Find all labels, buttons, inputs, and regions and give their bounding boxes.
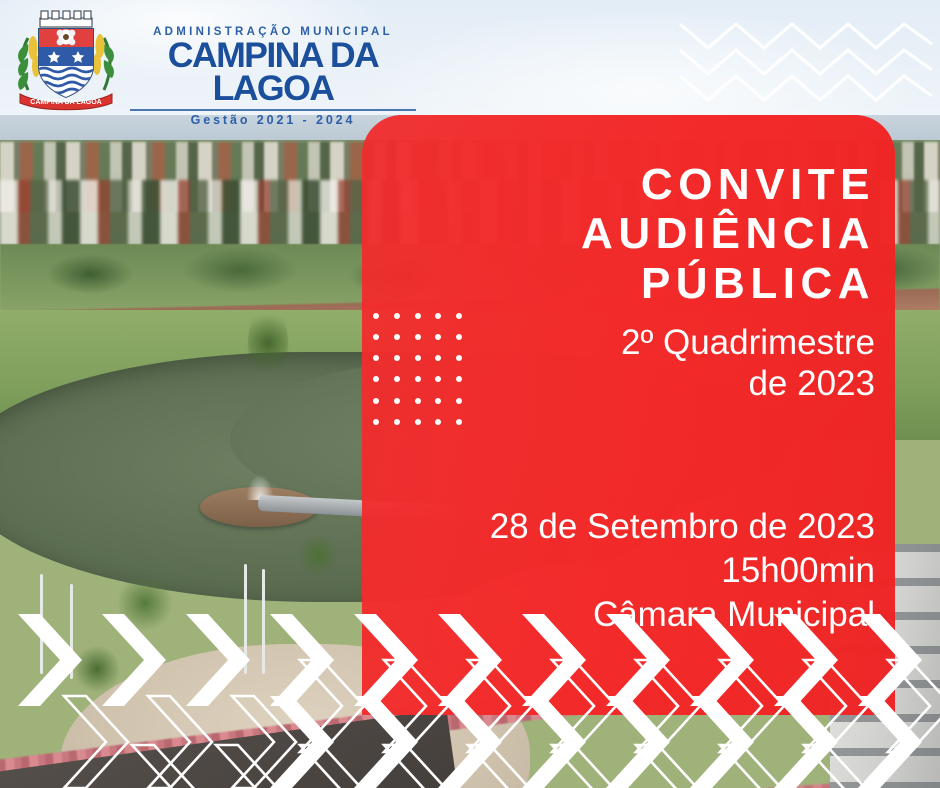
logo-term-line: Gestão 2021 - 2024 (128, 113, 418, 127)
title-line-1: CONVITE (420, 160, 875, 209)
photo-lamp-post (40, 574, 43, 674)
grid-dot (373, 376, 379, 382)
event-time: 15h00min (360, 549, 875, 593)
grid-dot (415, 419, 421, 425)
photo-lamp-post (70, 584, 73, 679)
grid-dot (373, 334, 379, 340)
logo-divider (130, 109, 416, 111)
wave-line-2 (680, 50, 932, 74)
photo-tree (248, 304, 288, 382)
grid-dot (394, 355, 400, 361)
subtitle-line-2: de 2023 (420, 363, 875, 404)
wheat-stalk-icon (93, 34, 114, 90)
grid-dot (394, 419, 400, 425)
invitation-heading-block: CONVITE AUDIÊNCIA PÚBLICA 2º Quadrimestr… (420, 160, 875, 404)
photo-lamp-post (262, 569, 265, 674)
grid-dot (373, 355, 379, 361)
photo-tree (75, 644, 119, 694)
wave-line-1 (680, 24, 932, 48)
logo-city-name: CAMPINA DA LAGOA (125, 39, 421, 106)
ribbon-motto: CAMPINA DA LAGOA (30, 99, 101, 106)
grid-dot (394, 334, 400, 340)
event-details-block: 28 de Setembro de 2023 15h00min Câmara M… (360, 505, 875, 637)
municipal-logo-text: ADMINISTRAÇÃO MUNICIPAL CAMPINA DA LAGOA… (128, 26, 418, 127)
photo-tree (300, 534, 336, 576)
event-date: 28 de Setembro de 2023 (360, 505, 875, 549)
coat-of-arms-icon: CAMPINA DA LAGOA (12, 4, 120, 112)
photo-tree (118, 574, 172, 632)
grid-dot (373, 398, 379, 404)
mural-crown-icon (40, 11, 92, 27)
title-line-2: AUDIÊNCIA (420, 209, 875, 258)
wave-decoration (660, 0, 940, 112)
event-place: Câmara Municipal (360, 593, 875, 637)
grid-dot (394, 398, 400, 404)
grid-dot (394, 376, 400, 382)
grid-dot (456, 419, 462, 425)
title-line-3: PÚBLICA (420, 259, 875, 308)
corn-stalk-icon (18, 36, 40, 90)
photo-lamp-post (244, 564, 247, 674)
cotton-flower-icon (57, 30, 76, 46)
shield-icon (37, 27, 97, 100)
grid-dot (394, 313, 400, 319)
grid-dot (373, 313, 379, 319)
wave-line-3 (680, 76, 932, 100)
grid-dot (373, 419, 379, 425)
subtitle-line-1: 2º Quadrimestre (420, 322, 875, 363)
grid-dot (435, 419, 441, 425)
invitation-poster: CONVITE AUDIÊNCIA PÚBLICA 2º Quadrimestr… (0, 0, 940, 788)
